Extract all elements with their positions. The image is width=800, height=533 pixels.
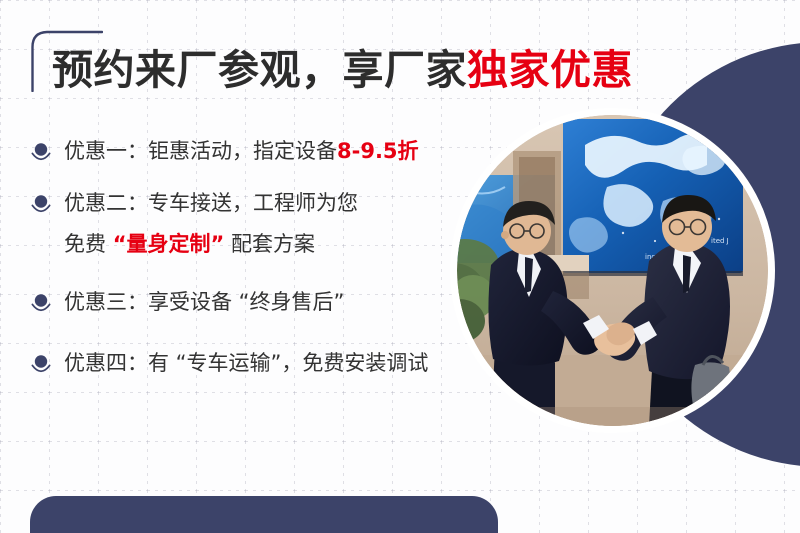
list-item-text: 优惠一：钜惠活动，指定设备 <box>64 139 337 163</box>
circle-arc-bullet-icon <box>30 291 52 317</box>
list-item-line-secondary: 免费 “量身定制” 配套方案 <box>64 229 460 259</box>
list-item: 优惠二：专车接送，工程师为您 免费 “量身定制” 配套方案 <box>30 188 460 259</box>
list-item: 优惠一：钜惠活动，指定设备8-9.5折 <box>30 136 460 166</box>
list-item: 优惠四：有 “专车运输”，免费安装调试 <box>30 348 460 378</box>
list-item-text-after: 配套方案 <box>224 232 315 256</box>
handshake-photo-inner: ing United ited J <box>457 115 768 426</box>
list-item-body: 优惠一：钜惠活动，指定设备8-9.5折 <box>64 136 460 166</box>
page-title: 预约来厂参观，享厂家独家优惠 <box>52 48 633 93</box>
list-item-body: 优惠二：专车接送，工程师为您 免费 “量身定制” 配套方案 <box>64 188 460 259</box>
list-item-accent: 8-9.5折 <box>337 139 419 163</box>
circle-arc-bullet-icon <box>30 140 52 166</box>
promo-banner: ing United ited J <box>0 0 800 533</box>
list-item-line: 优惠四：有 “专车运输”，免费安装调试 <box>64 348 460 378</box>
circle-arc-bullet-icon <box>30 352 52 378</box>
navy-bottom-bar <box>30 496 498 533</box>
list-item-text: 优惠三：享受设备 “终身售后” <box>64 290 344 314</box>
list-item-line: 优惠二：专车接送，工程师为您 <box>64 188 460 218</box>
list-item-accent: “量身定制” <box>113 232 225 256</box>
handshake-photo-illustration: ing United ited J <box>457 115 768 426</box>
list-item-body: 优惠四：有 “专车运输”，免费安装调试 <box>64 348 460 378</box>
list-item: 优惠三：享受设备 “终身售后” <box>30 287 460 317</box>
circle-arc-bullet-icon <box>30 192 52 218</box>
handshake-photo: ing United ited J <box>450 108 775 433</box>
offer-list: 优惠一：钜惠活动，指定设备8-9.5折 优惠二：专车接送，工程师为您 免费 “量… <box>30 136 460 396</box>
list-item-line: 优惠三：享受设备 “终身售后” <box>64 287 460 317</box>
list-item-body: 优惠三：享受设备 “终身售后” <box>64 287 460 317</box>
list-item-line: 优惠一：钜惠活动，指定设备8-9.5折 <box>64 136 460 166</box>
page-title-accent: 独家优惠 <box>467 46 633 94</box>
list-item-text: 优惠二：专车接送，工程师为您 <box>64 191 358 215</box>
svg-text:ited J: ited J <box>711 237 729 245</box>
list-item-text: 免费 <box>64 232 113 256</box>
list-item-text: 优惠四：有 “专车运输”，免费安装调试 <box>64 351 428 375</box>
page-title-main: 预约来厂参观，享厂家 <box>52 46 467 94</box>
